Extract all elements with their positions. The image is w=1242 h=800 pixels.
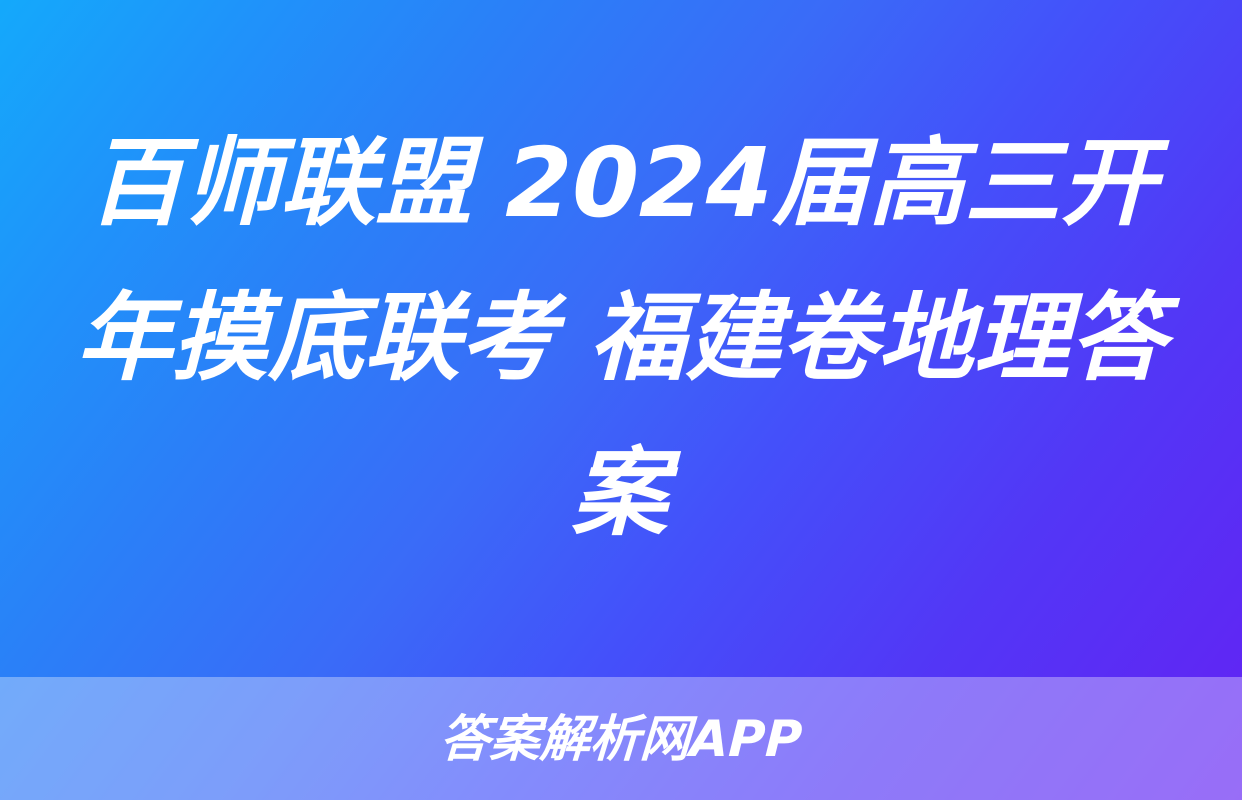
headline-container: 百师联盟 2024届高三开年摸底联考 福建卷地理答案: [0, 0, 1242, 677]
promo-card: 百师联盟 2024届高三开年摸底联考 福建卷地理答案 答案解析网APP: [0, 0, 1242, 800]
app-name-label: 答案解析网APP: [439, 714, 804, 764]
page-title: 百师联盟 2024届高三开年摸底联考 福建卷地理答案: [72, 106, 1170, 571]
app-promo-banner[interactable]: 答案解析网APP: [0, 677, 1242, 800]
